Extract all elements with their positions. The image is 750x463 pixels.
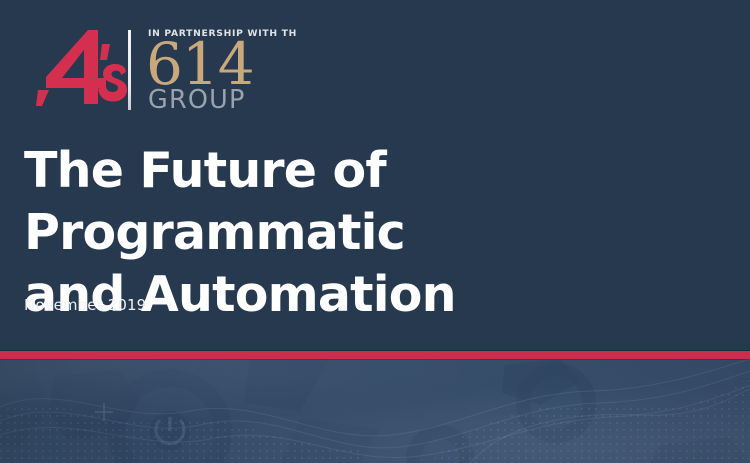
accent-rule xyxy=(0,351,750,359)
4as-logo-icon xyxy=(36,28,128,110)
partner-word-text: GROUP xyxy=(148,85,246,114)
hero-image-graphic xyxy=(0,359,750,463)
logo-divider xyxy=(128,30,131,110)
614-group-logo[interactable]: IN PARTNERSHIP WITH THE 614 GROUP xyxy=(146,22,296,114)
4as-logo[interactable] xyxy=(36,28,128,110)
report-cover: IN PARTNERSHIP WITH THE 614 GROUP The Fu… xyxy=(0,0,750,463)
hero-image xyxy=(0,359,750,463)
cover-header-panel: IN PARTNERSHIP WITH THE 614 GROUP The Fu… xyxy=(0,0,750,352)
publication-date: November 2019 xyxy=(24,296,146,314)
614-group-logo-icon: IN PARTNERSHIP WITH THE 614 GROUP xyxy=(146,22,296,114)
logo-lockup: IN PARTNERSHIP WITH THE 614 GROUP xyxy=(36,22,296,114)
